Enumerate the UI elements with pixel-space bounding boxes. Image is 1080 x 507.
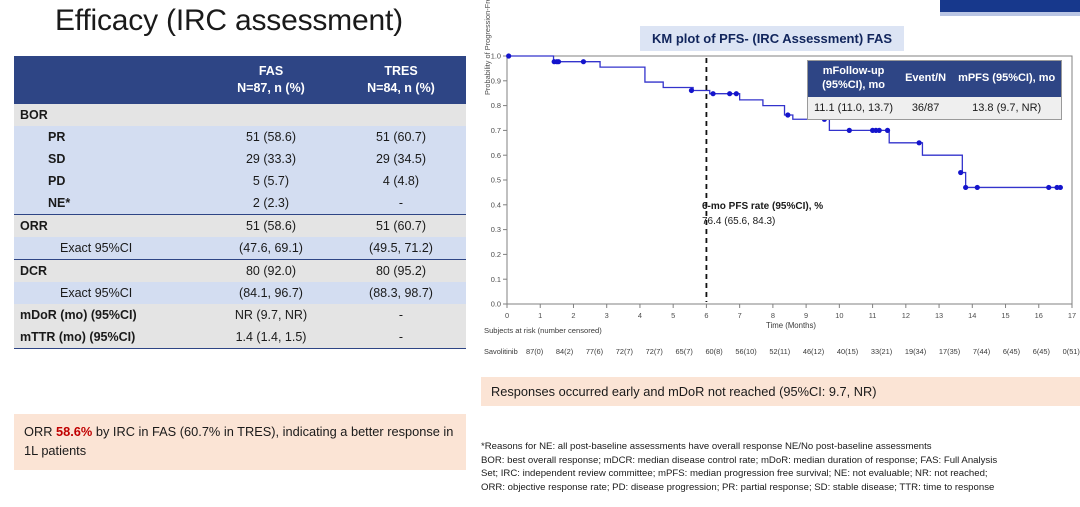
stats-followup-line1: mFollow-up xyxy=(814,65,893,79)
table-row: mDoR (mo) (95%CI) NR (9.7, NR) - xyxy=(14,304,466,326)
svg-text:0.6: 0.6 xyxy=(491,151,501,160)
svg-text:0.2: 0.2 xyxy=(491,250,501,259)
header-accent-bar-light xyxy=(940,12,1080,16)
at-risk-value: 87(0) xyxy=(526,347,543,356)
stats-header-event-n: Event/N xyxy=(899,61,952,97)
at-risk-values: 87(0)84(2)77(6)72(7)72(7)65(7)60(8)56(10… xyxy=(526,347,1080,356)
row-fas-bor xyxy=(206,104,336,126)
svg-text:9: 9 xyxy=(804,311,808,320)
stats-header-follow-up: mFollow-up (95%CI), mo xyxy=(808,61,900,97)
annotation-line-1: 6-mo PFS rate (95%CI), % xyxy=(702,200,823,215)
table-row: NE* 2 (2.3) - xyxy=(14,192,466,215)
row-label-pd: PD xyxy=(14,170,206,192)
at-risk-value: 6(45) xyxy=(1003,347,1020,356)
row-tres-ne: - xyxy=(336,192,466,215)
svg-text:12: 12 xyxy=(902,311,910,320)
table-header-row: FAS N=87, n (%) TRES N=84, n (%) xyxy=(14,56,466,104)
footnotes: *Reasons for NE: all post-baseline asses… xyxy=(481,440,1080,494)
row-label-dcr: DCR xyxy=(14,259,206,282)
mdor-callout: Responses occurred early and mDoR not re… xyxy=(481,377,1080,406)
at-risk-value: 19(34) xyxy=(905,347,926,356)
row-fas-sd: 29 (33.3) xyxy=(206,148,336,170)
row-fas-ne: 2 (2.3) xyxy=(206,192,336,215)
row-tres-mdor: - xyxy=(336,304,466,326)
svg-text:1.0: 1.0 xyxy=(491,52,501,61)
svg-text:6: 6 xyxy=(704,311,708,320)
km-6mo-annotation: 6-mo PFS rate (95%CI), % 76.4 (65.6, 84.… xyxy=(702,200,823,229)
at-risk-value: 72(7) xyxy=(616,347,633,356)
row-tres-pd: 4 (4.8) xyxy=(336,170,466,192)
header-accent-bar xyxy=(940,0,1080,12)
svg-text:0.1: 0.1 xyxy=(491,275,501,284)
at-risk-caption: Subjects at risk (number censored) xyxy=(484,326,602,335)
row-fas-dcr-ci: (84.1, 96.7) xyxy=(206,282,336,304)
table-header-tres: TRES N=84, n (%) xyxy=(336,56,466,104)
row-fas-mdor: NR (9.7, NR) xyxy=(206,304,336,326)
km-plot-title: KM plot of PFS- (IRC Assessment) FAS xyxy=(640,26,904,51)
svg-text:0.7: 0.7 xyxy=(491,126,501,135)
svg-text:3: 3 xyxy=(605,311,609,320)
footnote-line-2: BOR: best overall response; mDCR: median… xyxy=(481,454,1080,468)
km-y-tick-labels: 0.00.10.20.30.40.50.60.70.80.91.0 xyxy=(491,52,501,309)
fas-label: FAS xyxy=(210,63,332,80)
tres-label: TRES xyxy=(340,63,462,80)
stats-followup-line2: (95%CI), mo xyxy=(814,79,893,93)
at-risk-row: Savolitinib 87(0)84(2)77(6)72(7)72(7)65(… xyxy=(484,347,1080,356)
km-stats-table: mFollow-up (95%CI), mo Event/N mPFS (95%… xyxy=(807,60,1062,120)
stats-header-mpfs: mPFS (95%CI), mo xyxy=(952,61,1062,97)
km-x-ticks xyxy=(507,304,1072,308)
svg-text:0.0: 0.0 xyxy=(491,300,501,309)
footnote-line-1: *Reasons for NE: all post-baseline asses… xyxy=(481,440,1080,454)
table-row: BOR xyxy=(14,104,466,126)
svg-text:2: 2 xyxy=(571,311,575,320)
km-y-ticks xyxy=(503,56,507,304)
stats-value-event-n: 36/87 xyxy=(899,97,952,120)
stats-header-row: mFollow-up (95%CI), mo Event/N mPFS (95%… xyxy=(808,61,1062,97)
row-label-bor: BOR xyxy=(14,104,206,126)
row-label-dcr-ci: Exact 95%CI xyxy=(14,282,206,304)
row-tres-bor xyxy=(336,104,466,126)
row-tres-pr: 51 (60.7) xyxy=(336,126,466,148)
svg-text:15: 15 xyxy=(1001,311,1009,320)
row-tres-mttr: - xyxy=(336,326,466,349)
svg-text:16: 16 xyxy=(1035,311,1043,320)
row-fas-dcr: 80 (92.0) xyxy=(206,259,336,282)
tres-n: N=84, n (%) xyxy=(340,80,462,97)
row-fas-pr: 51 (58.6) xyxy=(206,126,336,148)
at-risk-value: 84(2) xyxy=(556,347,573,356)
at-risk-value: 65(7) xyxy=(676,347,693,356)
at-risk-value: 7(44) xyxy=(973,347,990,356)
callout-highlight: 58.6% xyxy=(56,424,92,439)
row-tres-dcr-ci: (88.3, 98.7) xyxy=(336,282,466,304)
svg-text:14: 14 xyxy=(968,311,976,320)
efficacy-table: FAS N=87, n (%) TRES N=84, n (%) BOR PR … xyxy=(14,56,466,349)
svg-text:0.3: 0.3 xyxy=(491,225,501,234)
row-tres-sd: 29 (34.5) xyxy=(336,148,466,170)
stats-value-mpfs: 13.8 (9.7, NR) xyxy=(952,97,1062,120)
row-label-ne: NE* xyxy=(14,192,206,215)
row-label-orr-ci: Exact 95%CI xyxy=(14,237,206,260)
stats-value-follow-up: 11.1 (11.0, 13.7) xyxy=(808,97,900,120)
row-label-mdor: mDoR (mo) (95%CI) xyxy=(14,304,206,326)
table-row: DCR 80 (92.0) 80 (95.2) xyxy=(14,259,466,282)
row-tres-dcr: 80 (95.2) xyxy=(336,259,466,282)
footnote-line-4: ORR: objective response rate; PD: diseas… xyxy=(481,481,1080,495)
row-fas-orr-ci: (47.6, 69.1) xyxy=(206,237,336,260)
svg-text:1: 1 xyxy=(538,311,542,320)
svg-text:13: 13 xyxy=(935,311,943,320)
km-x-tick-labels: 01234567891011121314151617 xyxy=(505,311,1076,320)
at-risk-series-name: Savolitinib xyxy=(484,347,526,356)
row-fas-pd: 5 (5.7) xyxy=(206,170,336,192)
row-fas-mttr: 1.4 (1.4, 1.5) xyxy=(206,326,336,349)
at-risk-value: 0(51) xyxy=(1063,347,1080,356)
svg-text:5: 5 xyxy=(671,311,675,320)
svg-text:10: 10 xyxy=(835,311,843,320)
row-tres-orr-ci: (49.5, 71.2) xyxy=(336,237,466,260)
stats-value-row: 11.1 (11.0, 13.7) 36/87 13.8 (9.7, NR) xyxy=(808,97,1062,120)
svg-text:11: 11 xyxy=(869,311,877,320)
at-risk-value: 40(15) xyxy=(837,347,858,356)
svg-text:7: 7 xyxy=(738,311,742,320)
callout-prefix: ORR xyxy=(24,424,56,439)
svg-text:8: 8 xyxy=(771,311,775,320)
footnote-line-3: Set; IRC: independent review committee; … xyxy=(481,467,1080,481)
table-row: Exact 95%CI (47.6, 69.1) (49.5, 71.2) xyxy=(14,237,466,260)
svg-text:0.4: 0.4 xyxy=(491,200,501,209)
row-label-sd: SD xyxy=(14,148,206,170)
at-risk-value: 46(12) xyxy=(803,347,824,356)
km-x-axis-label: Time (Months) xyxy=(766,321,816,330)
orr-callout: ORR 58.6% by IRC in FAS (60.7% in TRES),… xyxy=(14,414,466,470)
svg-text:17: 17 xyxy=(1068,311,1076,320)
at-risk-value: 6(45) xyxy=(1033,347,1050,356)
at-risk-value: 17(35) xyxy=(939,347,960,356)
row-tres-orr: 51 (60.7) xyxy=(336,214,466,237)
svg-text:0.9: 0.9 xyxy=(491,76,501,85)
fas-n: N=87, n (%) xyxy=(210,80,332,97)
at-risk-value: 52(11) xyxy=(769,347,790,356)
table-row: mTTR (mo) (95%CI) 1.4 (1.4, 1.5) - xyxy=(14,326,466,349)
table-header-fas: FAS N=87, n (%) xyxy=(206,56,336,104)
table-row: ORR 51 (58.6) 51 (60.7) xyxy=(14,214,466,237)
table-row: Exact 95%CI (84.1, 96.7) (88.3, 98.7) xyxy=(14,282,466,304)
table-row: PR 51 (58.6) 51 (60.7) xyxy=(14,126,466,148)
at-risk-value: 60(8) xyxy=(705,347,722,356)
at-risk-value: 56(10) xyxy=(735,347,756,356)
table-row: SD 29 (33.3) 29 (34.5) xyxy=(14,148,466,170)
annotation-line-2: 76.4 (65.6, 84.3) xyxy=(702,215,823,230)
row-label-orr: ORR xyxy=(14,214,206,237)
row-fas-orr: 51 (58.6) xyxy=(206,214,336,237)
row-label-pr: PR xyxy=(14,126,206,148)
svg-text:0.5: 0.5 xyxy=(491,176,501,185)
table-row: PD 5 (5.7) 4 (4.8) xyxy=(14,170,466,192)
page-title: Efficacy (IRC assessment) xyxy=(55,4,403,38)
svg-text:4: 4 xyxy=(638,311,642,320)
at-risk-value: 77(6) xyxy=(586,347,603,356)
row-label-mttr: mTTR (mo) (95%CI) xyxy=(14,326,206,349)
at-risk-value: 33(21) xyxy=(871,347,892,356)
table-header-blank xyxy=(14,56,206,104)
at-risk-value: 72(7) xyxy=(646,347,663,356)
svg-text:0.8: 0.8 xyxy=(491,101,501,110)
svg-text:0: 0 xyxy=(505,311,509,320)
